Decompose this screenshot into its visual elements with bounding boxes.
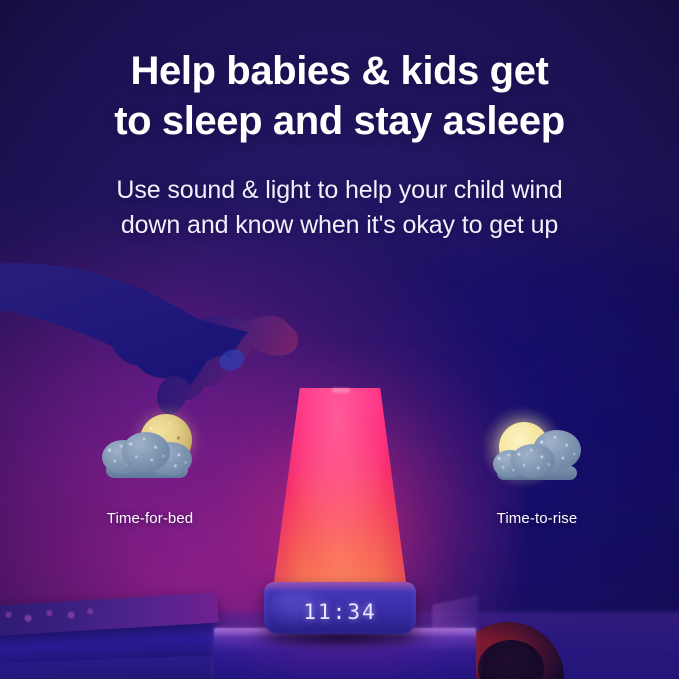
page-subtitle: Use sound & light to help your child win… bbox=[45, 173, 635, 243]
headline-line-1: Help babies & kids get bbox=[40, 46, 640, 96]
cloud-texture bbox=[122, 432, 170, 472]
cloud-icon bbox=[511, 444, 555, 478]
feature-time-for-bed: Time-for-bed bbox=[65, 412, 235, 527]
lamp-shade-highlight bbox=[273, 388, 407, 590]
cloud-texture bbox=[511, 444, 555, 478]
subheadline-line-1: Use sound & light to help your child win… bbox=[45, 173, 635, 208]
headline-block: Help babies & kids get to sleep and stay… bbox=[0, 46, 679, 243]
feature-label-time-to-rise: Time-to-rise bbox=[452, 510, 622, 527]
moon-behind-cloud-icon bbox=[100, 412, 200, 496]
headline-line-2: to sleep and stay asleep bbox=[40, 96, 640, 146]
book-cover-pattern bbox=[0, 606, 100, 626]
feature-time-to-rise: Time-to-rise bbox=[452, 412, 622, 527]
subheadline-line-2: down and know when it's okay to get up bbox=[45, 208, 635, 243]
night-light-device[interactable]: 11:34 bbox=[264, 388, 416, 634]
lamp-top-button[interactable] bbox=[332, 388, 350, 393]
clock-display: 11:34 bbox=[264, 600, 416, 624]
lamp-base[interactable]: 11:34 bbox=[264, 582, 416, 634]
feature-label-time-for-bed: Time-for-bed bbox=[65, 510, 235, 527]
product-lifestyle-banner: Help babies & kids get to sleep and stay… bbox=[0, 0, 679, 679]
cloud-icon bbox=[122, 432, 170, 472]
sun-behind-cloud-icon bbox=[487, 412, 587, 496]
page-title: Help babies & kids get to sleep and stay… bbox=[40, 46, 640, 146]
